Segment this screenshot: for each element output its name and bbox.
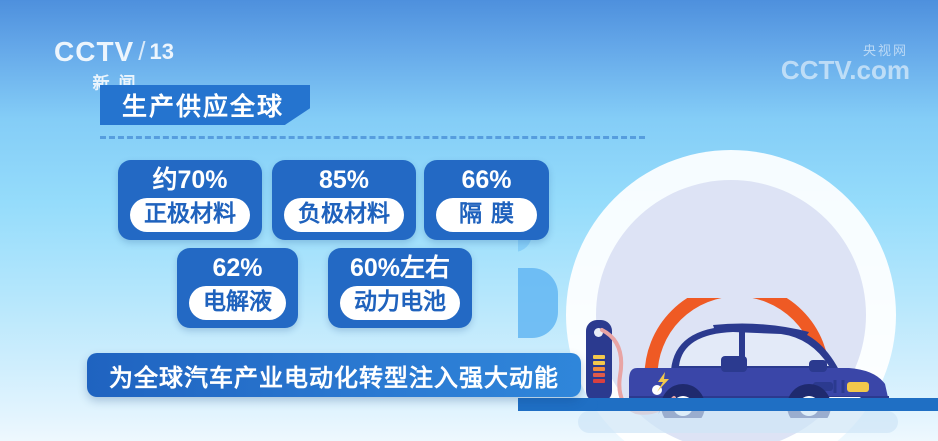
stat-label: 电解液 [189, 286, 286, 319]
stat-value: 60%左右 [350, 255, 450, 281]
stat-value: 85% [319, 167, 369, 193]
footer-text: 为全球汽车产业电动化转型注入强大动能 [109, 358, 559, 393]
ground-bar [558, 398, 938, 411]
decor-blob-a [518, 268, 558, 338]
divider-dashed [100, 136, 645, 139]
stat-value: 约70% [152, 167, 227, 193]
channel-logo-row: CCTV / 13 [54, 36, 174, 68]
stat-label: 负极材料 [284, 198, 404, 231]
title-banner: 生产供应全球 [100, 85, 310, 125]
page-title: 生产供应全球 [122, 87, 284, 123]
stat-label: 动力电池 [340, 286, 460, 319]
footer-banner: 为全球汽车产业电动化转型注入强大动能 [87, 353, 581, 397]
broadcast-graphic: CCTV / 13 新闻 央视网 CCTV.com 生产供应全球 约70% 正极… [0, 0, 938, 441]
ground-shadow [578, 411, 898, 433]
channel-logo-number: 13 [149, 39, 173, 65]
stat-card: 85% 负极材料 [272, 160, 416, 240]
watermark-domain: CCTV.com [781, 55, 910, 86]
stat-card: 60%左右 动力电池 [328, 248, 472, 328]
site-watermark: 央视网 CCTV.com [781, 40, 910, 86]
channel-logo-cctv: CCTV [54, 36, 134, 68]
stat-label: 正极材料 [130, 198, 250, 231]
charging-station-icon [586, 320, 612, 402]
watermark-cn: 央视网 [781, 40, 908, 59]
charging-station-port [594, 328, 603, 337]
channel-logo-slash: / [138, 36, 145, 67]
stat-card: 62% 电解液 [177, 248, 298, 328]
stat-value: 66% [461, 167, 511, 193]
stat-value: 62% [212, 255, 262, 281]
decor-ring-outer [566, 150, 896, 441]
ground-bar-left [518, 398, 598, 411]
charging-level-indicator [593, 355, 605, 385]
electric-car-icon [613, 298, 913, 418]
stat-card: 66% 隔膜 [424, 160, 549, 240]
stat-card: 约70% 正极材料 [118, 160, 262, 240]
decor-ring-inner [596, 180, 866, 441]
stat-label: 隔膜 [436, 198, 537, 231]
charging-cable [578, 320, 708, 420]
illustration-ev-charging-scene [518, 0, 938, 441]
